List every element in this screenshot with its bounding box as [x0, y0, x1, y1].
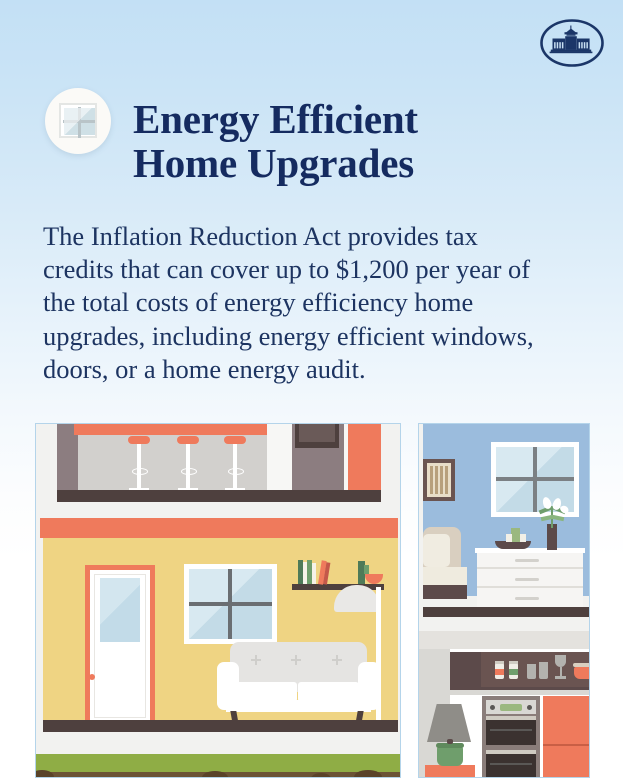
- soil-pebble: [354, 770, 382, 778]
- refrigerator-lower: [543, 746, 590, 778]
- upper-floor: [57, 490, 381, 502]
- wine-glass-foot: [555, 676, 566, 679]
- window-icon-badge: [45, 88, 111, 154]
- soil-pebble: [311, 773, 331, 778]
- drinking-glass: [527, 664, 536, 679]
- sofa-cushion-right: [298, 682, 359, 702]
- oven-knob: [527, 705, 532, 710]
- front-door-glass: [100, 578, 140, 642]
- wine-glass-stem: [560, 667, 562, 676]
- refrigerator-upper: [543, 696, 590, 744]
- oven-door-lower: [486, 751, 536, 778]
- white-house-seal-icon: [539, 18, 605, 68]
- dresser-drawer-divider: [477, 586, 583, 588]
- framed-art-stroke: [445, 466, 448, 494]
- lower-floor: [43, 720, 398, 732]
- sofa-cushion-left: [236, 682, 297, 702]
- bar-stool-footring: [228, 468, 244, 475]
- dresser-handle: [515, 578, 539, 581]
- bedroom-window-mullion-horizontal: [496, 477, 574, 481]
- spice-jar-label: [509, 669, 518, 675]
- wine-glass-bowl: [555, 655, 566, 667]
- drinking-glass: [539, 662, 548, 679]
- dresser-top: [475, 548, 585, 553]
- foundation: [36, 732, 401, 754]
- home-interior-illustration: [35, 423, 401, 778]
- page-title-line-1: Energy Efficient: [133, 96, 418, 142]
- sofa-tuft: [255, 655, 257, 665]
- book: [312, 563, 316, 584]
- bar-stool-footring: [132, 468, 148, 475]
- door-knob: [89, 674, 95, 680]
- armchair-base: [423, 585, 467, 599]
- kitchen-ceiling: [419, 631, 590, 649]
- upper-doorway: [267, 424, 292, 494]
- sofa-seat-base: [226, 700, 371, 712]
- bar-stool-post: [186, 444, 190, 490]
- soil-pebble: [202, 771, 228, 778]
- bar-stool-post: [137, 444, 141, 490]
- window-icon: [59, 103, 97, 138]
- sofa-tuft: [336, 655, 338, 665]
- bar-stool: [128, 436, 150, 444]
- spice-jar-lid: [495, 661, 504, 664]
- bar-stool-post: [233, 444, 237, 490]
- oven-door-upper-handle: [486, 716, 536, 720]
- page-title: Energy Efficient Home Upgrades: [133, 97, 563, 185]
- grass-strip: [36, 754, 401, 772]
- bedroom-kitchen-illustration: [418, 423, 590, 778]
- window-mullion-horizontal: [189, 602, 272, 606]
- page-title-line-2: Home Upgrades: [133, 141, 563, 185]
- oven-door-upper: [486, 717, 536, 745]
- green-vase-leaf: [364, 565, 369, 574]
- armchair-seat: [423, 567, 467, 587]
- framed-art-stroke: [435, 466, 438, 494]
- sofa-tuft: [295, 655, 297, 665]
- stock-pot-handle: [447, 739, 453, 744]
- framed-art-stroke: [430, 466, 433, 494]
- oven-display: [500, 704, 522, 711]
- spice-jar-lid: [509, 661, 518, 664]
- storey-gap: [419, 617, 590, 631]
- dresser-handle: [515, 597, 539, 600]
- bar-stool-footring: [181, 468, 197, 475]
- kitchen-counter: [450, 690, 590, 695]
- bedroom-floor: [423, 607, 589, 617]
- lower-ceiling-band: [40, 518, 398, 538]
- oven-door-lower-handle: [486, 750, 536, 754]
- candle: [520, 534, 526, 542]
- stock-pot: [437, 747, 463, 766]
- infographic-page: Energy Efficient Home Upgrades The Infla…: [0, 0, 623, 778]
- framed-art-stroke: [440, 466, 443, 494]
- candle: [506, 534, 512, 542]
- body-paragraph: The Inflation Reduction Act provides tax…: [43, 220, 543, 387]
- oven-door-lower-line: [490, 763, 532, 765]
- bar-stool: [177, 436, 199, 444]
- floor-lamp-pole: [376, 587, 381, 727]
- window-glare: [64, 108, 95, 135]
- candle: [511, 528, 520, 542]
- oven-knob: [490, 705, 495, 710]
- bar-stool: [224, 436, 246, 444]
- oven-door-upper-line: [490, 729, 532, 731]
- upper-orange-wall: [348, 424, 381, 494]
- candle-tray: [495, 541, 531, 549]
- spice-jar-label: [495, 669, 504, 675]
- dresser-drawer-divider: [477, 567, 583, 569]
- stove-counter: [425, 765, 475, 778]
- armchair-pillow: [423, 534, 450, 567]
- dresser-handle: [515, 559, 539, 562]
- storey-gap: [36, 502, 401, 518]
- cooking-pot: [574, 667, 590, 679]
- bar-counter: [74, 424, 267, 435]
- wall-art-inner: [299, 424, 335, 442]
- cooking-pot-lid: [573, 663, 590, 667]
